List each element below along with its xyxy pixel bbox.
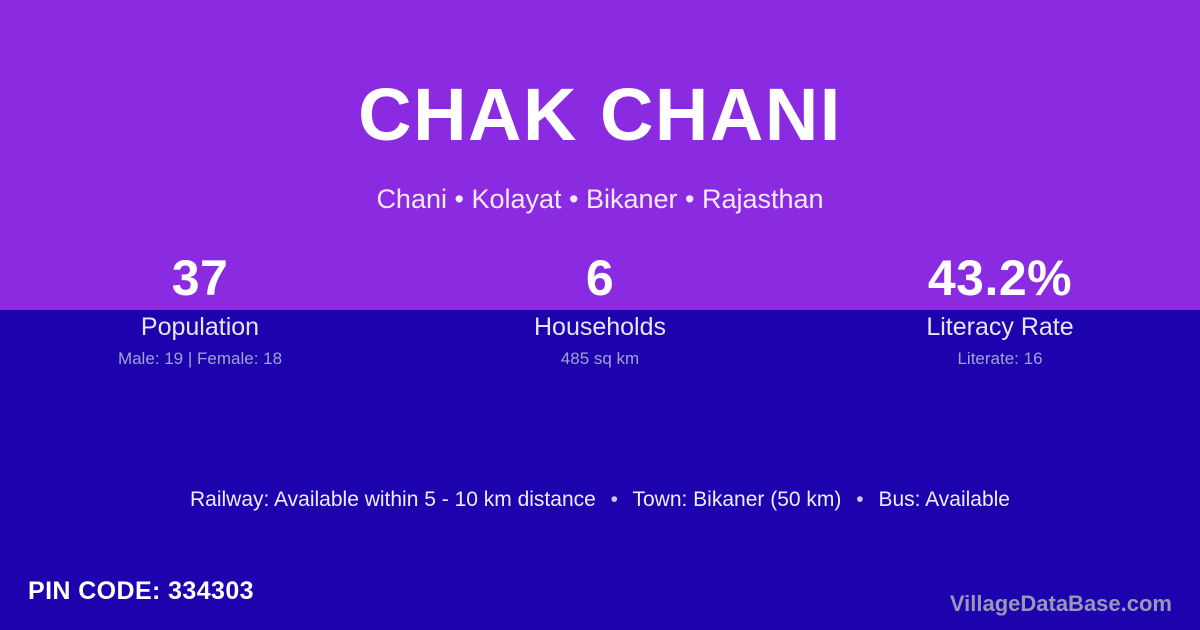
page-title: CHAK CHANI xyxy=(0,78,1200,152)
stat-label: Literacy Rate xyxy=(800,312,1200,342)
infrastructure-line: Railway: Available within 5 - 10 km dist… xyxy=(0,486,1200,514)
stat-population: 37 Population Male: 19 | Female: 18 xyxy=(0,246,400,370)
infra-separator: • xyxy=(602,488,627,511)
village-info-card: CHAK CHANI Chani • Kolayat • Bikaner • R… xyxy=(0,0,1200,630)
stat-value: 6 xyxy=(400,246,800,310)
infra-town: Town: Bikaner (50 km) xyxy=(632,488,841,511)
card-footer: PIN CODE: 334303 VillageDataBase.com xyxy=(0,570,1200,630)
stat-subtext: Literate: 16 xyxy=(800,348,1200,370)
stat-subtext: Male: 19 | Female: 18 xyxy=(0,348,400,370)
stat-literacy-rate: 43.2% Literacy Rate Literate: 16 xyxy=(800,246,1200,370)
breadcrumb: Chani • Kolayat • Bikaner • Rajasthan xyxy=(0,183,1200,215)
stats-row: 37 Population Male: 19 | Female: 18 6 Ho… xyxy=(0,246,1200,370)
infra-railway: Railway: Available within 5 - 10 km dist… xyxy=(190,488,596,511)
stat-subtext: 485 sq km xyxy=(400,348,800,370)
stat-value: 37 xyxy=(0,246,400,310)
infra-bus: Bus: Available xyxy=(878,488,1010,511)
stat-value: 43.2% xyxy=(800,246,1200,310)
stat-households: 6 Households 485 sq km xyxy=(400,246,800,370)
stat-label: Households xyxy=(400,312,800,342)
infra-separator: • xyxy=(847,488,872,511)
stat-label: Population xyxy=(0,312,400,342)
pin-code: PIN CODE: 334303 xyxy=(28,575,254,607)
site-branding: VillageDataBase.com xyxy=(950,590,1172,618)
